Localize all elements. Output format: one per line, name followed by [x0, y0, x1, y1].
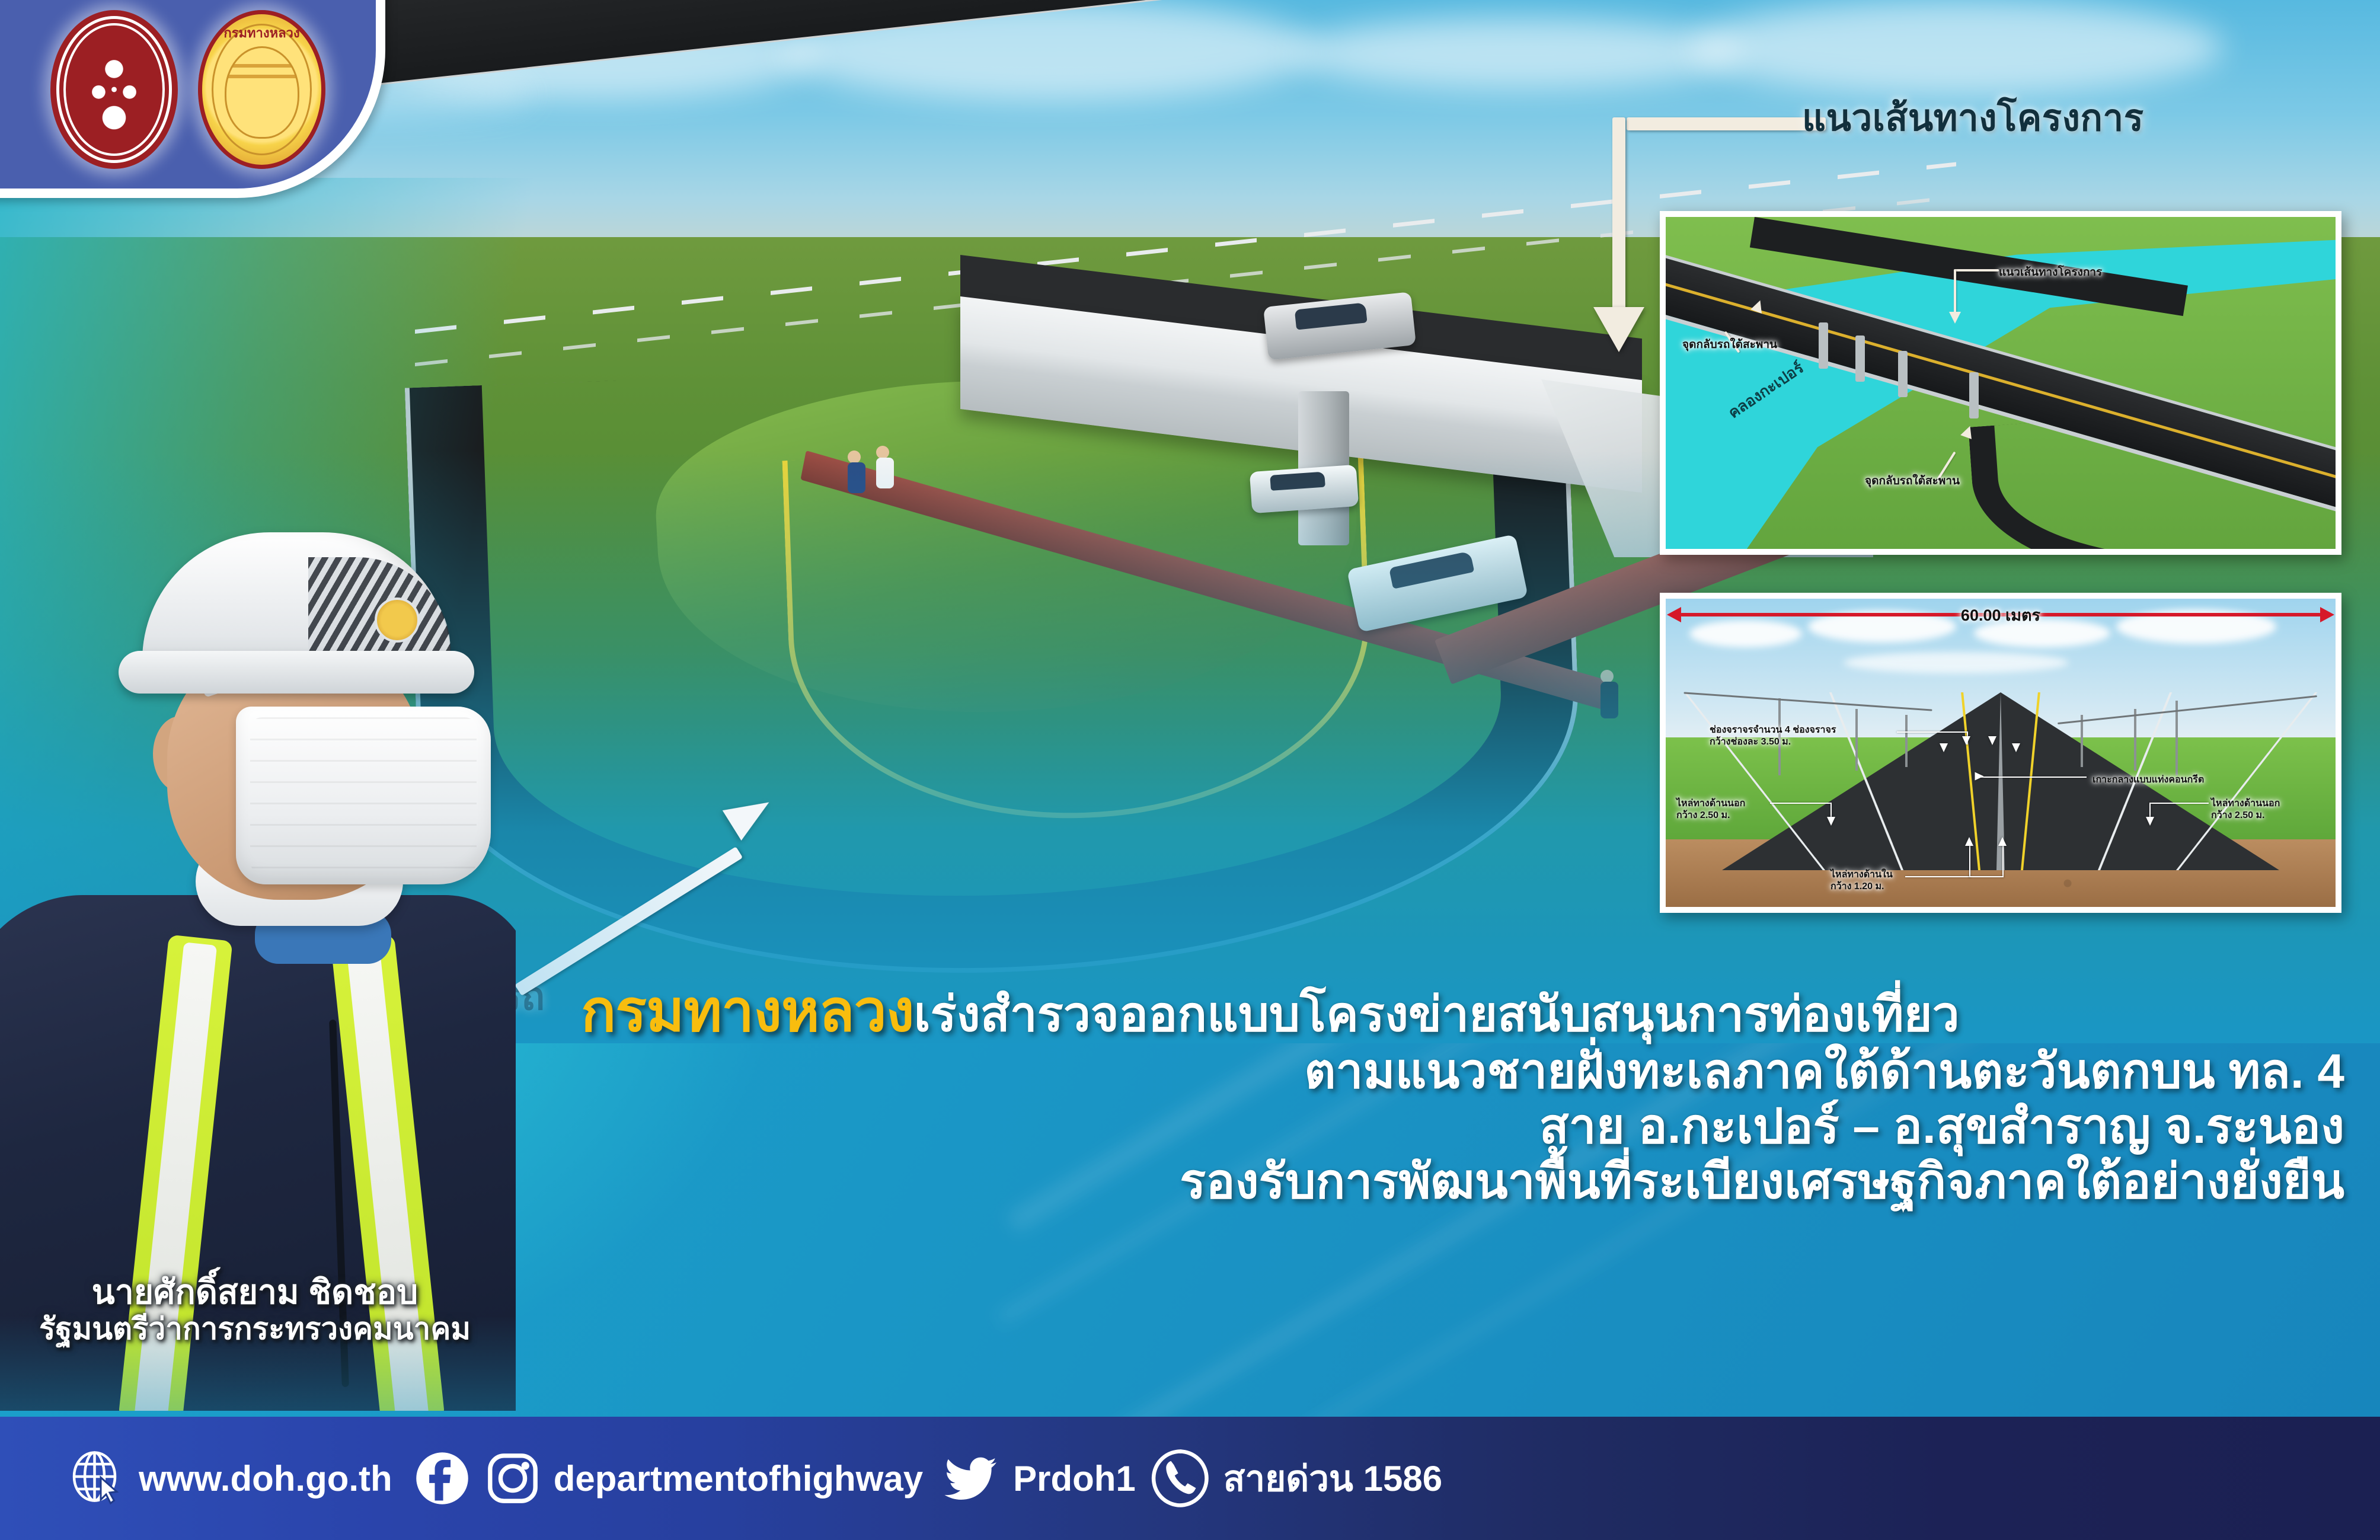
twitter-item[interactable]: Prdoh1	[943, 1450, 1136, 1507]
width-dimension-label: 60.00 เมตร	[1666, 602, 2336, 628]
twitter-bird-icon	[943, 1450, 1000, 1507]
headline-line-2: ตามแนวชายฝั่งทะเลภาคใต้ด้านตะวันตกบน ทล.…	[581, 1044, 2344, 1099]
twitter-handle: Prdoh1	[1013, 1458, 1136, 1499]
face-mask	[236, 707, 491, 884]
inset-uturn-left-label: จุดกลับรถใต้สะพาน	[1682, 336, 1777, 353]
headline-line-1-rest: เร่งสำรวจออกแบบโครงข่ายสนับสนุนการท่องเท…	[914, 988, 1960, 1041]
headline-line-1: กรมทางหลวงเร่งสำรวจออกแบบโครงข่ายสนับสนุ…	[581, 978, 2344, 1044]
lane-count-label: ช่องจราจรจำนวน 4 ช่องจราจร กว้างช่องละ 3…	[1710, 724, 1836, 747]
outer-shoulder-left-label: ไหล่ทางด้านนอก กว้าง 2.50 ม.	[1676, 798, 1745, 821]
headline: กรมทางหลวงเร่งสำรวจออกแบบโครงข่ายสนับสนุ…	[581, 978, 2344, 1209]
headline-brand: กรมทางหลวง	[581, 978, 914, 1043]
outer-shoulder-right-label: ไหล่ทางด้านนอก กว้าง 2.50 ม.	[2211, 798, 2280, 821]
facebook-icon	[413, 1449, 472, 1508]
median-label: เกาะกลางแบบแท่งคอนกรีต	[2093, 774, 2204, 786]
hotline-text: สายด่วน 1586	[1223, 1450, 1442, 1507]
garuda-seal-icon	[50, 10, 178, 169]
poster-root: จุดกลับรถ แนวเส้นทางโครงการ กรมทางหลวง	[0, 0, 2380, 1540]
website-item[interactable]: www.doh.go.th	[69, 1450, 392, 1507]
inset-bridge-render: แนวเส้นทางโครงการ จุดกลับรถใต้สะพาน จุดก…	[1660, 211, 2341, 555]
headline-line-4: รองรับการพัฒนาพื้นที่ระเบียงเศรษฐกิจภาคใ…	[581, 1154, 2344, 1209]
minister-title: รัฐมนตรีว่าการกระทรวงคมนาคม	[18, 1312, 492, 1345]
minister-caption: นายศักดิ์สยาม ชิดชอบ รัฐมนตรีว่าการกระทร…	[18, 1274, 492, 1345]
phone-icon	[1149, 1448, 1210, 1509]
inner-shoulder-label: ไหล่ทางด้านใน กว้าง 1.20 ม.	[1830, 869, 1893, 892]
inset-uturn-right-label: จุดกลับรถใต้สะพาน	[1865, 472, 1960, 490]
website-url: www.doh.go.th	[139, 1458, 392, 1499]
hotline-item[interactable]: สายด่วน 1586	[1149, 1448, 1442, 1509]
helmet-emblem-icon	[375, 598, 420, 643]
facebook-item[interactable]: departmentofhighway	[413, 1449, 923, 1508]
doh-seal-icon: กรมทางหลวง	[198, 10, 325, 169]
route-callout-label: แนวเส้นทางโครงการ	[1802, 89, 2144, 147]
minister-name: นายศักดิ์สยาม ชิดชอบ	[18, 1274, 492, 1311]
doh-seal-label: กรมทางหลวง	[202, 23, 321, 43]
inset-cross-section: 60.00 เมตร ช่องจราจรจำนวน 4 ช่องจราจร กว…	[1660, 593, 2341, 913]
scene-pointer-arrow	[522, 800, 794, 996]
minister-photo	[0, 486, 516, 1411]
contact-footer: www.doh.go.th departmentofhighway	[0, 1417, 2380, 1540]
globe-cursor-icon	[69, 1450, 126, 1507]
helmet-brim	[119, 651, 474, 694]
headline-line-3: สาย อ.กะเปอร์ – อ.สุขสำราญ จ.ระนอง	[581, 1099, 2344, 1154]
social-handle: departmentofhighway	[554, 1458, 923, 1499]
instagram-icon	[485, 1450, 541, 1506]
inset-route-label: แนวเส้นทางโครงการ	[1999, 263, 2102, 281]
